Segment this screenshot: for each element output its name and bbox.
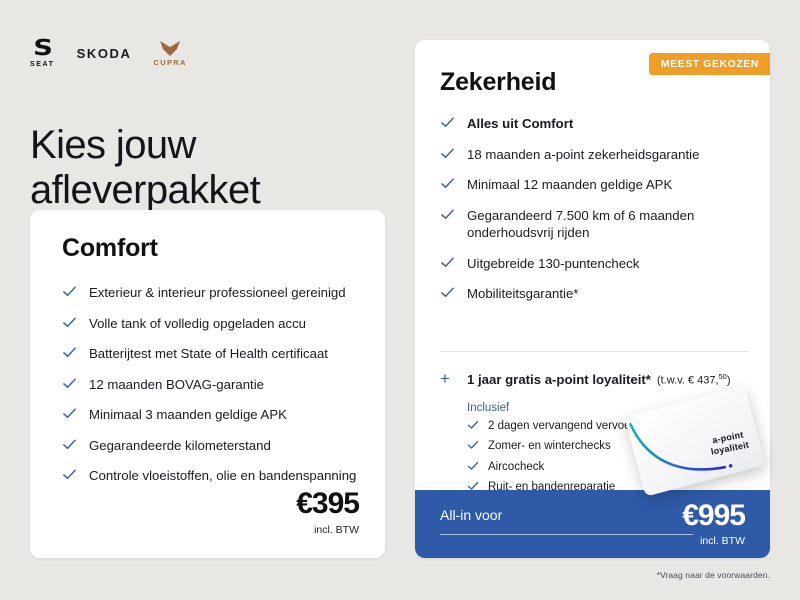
check-icon (62, 345, 77, 360)
check-icon (440, 146, 455, 161)
zekerheid-package-card[interactable]: MEEST GEKOZEN Zekerheid Alles uit Comfor… (415, 40, 770, 558)
list-item: Minimaal 12 maanden geldige APK (440, 176, 750, 194)
footnote: *Vraag naar de voorwaarden. (657, 570, 770, 580)
list-item: Uitgebreide 130-puntencheck (440, 255, 750, 273)
skoda-logo: SKODA (77, 46, 132, 61)
loyalty-value-suffix: ) (727, 375, 731, 387)
loyalty-value-prefix: (t.w.v. € 437, (657, 375, 719, 387)
list-item: Exterieur & interieur professioneel gere… (62, 284, 362, 302)
list-item-label: Uitgebreide 130-puntencheck (467, 256, 639, 271)
check-icon (62, 284, 77, 299)
list-item-label: Minimaal 3 maanden geldige APK (89, 407, 287, 422)
zekerheid-title: Zekerheid (440, 68, 556, 97)
check-icon (440, 285, 455, 300)
list-item-label: Volle tank of volledig opgeladen accu (89, 316, 306, 331)
loyalty-value-cents: 50 (719, 372, 727, 381)
allin-price-footer: All-in voor €995 incl. BTW (415, 490, 770, 558)
list-item-label: Gegarandeerd 7.500 km of 6 maanden onder… (467, 208, 694, 241)
comfort-price-block: €395 incl. BTW (296, 489, 359, 536)
promo-page: S SEAT SKODA CUPRA Kies jouw afleverpakk… (0, 0, 800, 600)
check-icon (440, 207, 455, 222)
list-item: Gegarandeerde kilometerstand (62, 437, 362, 455)
loyalty-label: 1 jaar gratis a-point loyaliteit* (467, 372, 651, 387)
list-item-label: Aircocheck (488, 461, 544, 473)
zekerheid-price: €995 (682, 501, 745, 531)
check-icon (62, 437, 77, 452)
cupra-mark-icon (159, 40, 181, 57)
list-item-label: Batterijtest met State of Health certifi… (89, 346, 328, 361)
list-item-label: Controle vloeistoffen, olie en bandenspa… (89, 468, 356, 483)
list-item-label: Mobiliteitsgarantie* (467, 286, 578, 301)
list-item-label: Exterieur & interieur professioneel gere… (89, 285, 346, 300)
comfort-package-card[interactable]: Comfort Exterieur & interieur profession… (30, 210, 385, 558)
zekerheid-feature-list: Alles uit Comfort 18 maanden a-point zek… (440, 115, 750, 316)
check-icon (62, 315, 77, 330)
check-icon (467, 439, 479, 451)
comfort-title: Comfort (62, 234, 158, 263)
list-item-label: Zomer- en winterchecks (488, 440, 611, 452)
seat-logo: S SEAT (30, 38, 55, 68)
loyalty-value-note: (t.w.v. € 437,50) (657, 372, 731, 387)
cupra-wordmark: CUPRA (154, 59, 187, 67)
allin-label: All-in voor (440, 507, 502, 523)
loyalty-headline-row: + 1 jaar gratis a-point loyaliteit* (t.w… (440, 370, 760, 387)
list-item: Controle vloeistoffen, olie en bandenspa… (62, 467, 362, 485)
list-item: 12 maanden BOVAG-garantie (62, 376, 362, 394)
list-item-label: Alles uit Comfort (467, 116, 573, 131)
page-title: Kies jouw afleverpakket (30, 123, 370, 213)
seat-wordmark: SEAT (30, 61, 55, 68)
list-item-label: Gegarandeerde kilometerstand (89, 438, 271, 453)
comfort-price: €395 (296, 489, 359, 519)
check-icon (467, 460, 479, 472)
check-icon (467, 419, 479, 431)
section-divider (440, 351, 748, 352)
brand-logo-row: S SEAT SKODA CUPRA (30, 36, 187, 70)
check-icon (62, 467, 77, 482)
zekerheid-vat-note: incl. BTW (700, 535, 745, 547)
list-item-label: Minimaal 12 maanden geldige APK (467, 177, 672, 192)
cupra-logo: CUPRA (154, 40, 187, 67)
list-item: Batterijtest met State of Health certifi… (62, 345, 362, 363)
status-badge: MEEST GEKOZEN (649, 53, 770, 75)
list-item: Minimaal 3 maanden geldige APK (62, 406, 362, 424)
comfort-vat-note: incl. BTW (296, 524, 359, 536)
footer-rule (440, 534, 693, 535)
list-item: Gegarandeerd 7.500 km of 6 maanden onder… (440, 207, 750, 242)
list-item: 18 maanden a-point zekerheidsgarantie (440, 146, 750, 164)
check-icon (440, 115, 455, 130)
list-item-label: 2 dagen vervangend vervoer (488, 420, 634, 432)
check-icon (440, 176, 455, 191)
list-item-label: 12 maanden BOVAG-garantie (89, 377, 264, 392)
check-icon (62, 406, 77, 421)
list-item: Alles uit Comfort (440, 115, 750, 133)
check-icon (440, 255, 455, 270)
plus-icon: + (440, 370, 467, 387)
comfort-feature-list: Exterieur & interieur professioneel gere… (62, 284, 362, 498)
check-icon (62, 376, 77, 391)
list-item: Volle tank of volledig opgeladen accu (62, 315, 362, 333)
seat-mark-icon: S (33, 38, 53, 60)
list-item-label: 18 maanden a-point zekerheidsgarantie (467, 147, 699, 162)
list-item: Mobiliteitsgarantie* (440, 285, 750, 303)
